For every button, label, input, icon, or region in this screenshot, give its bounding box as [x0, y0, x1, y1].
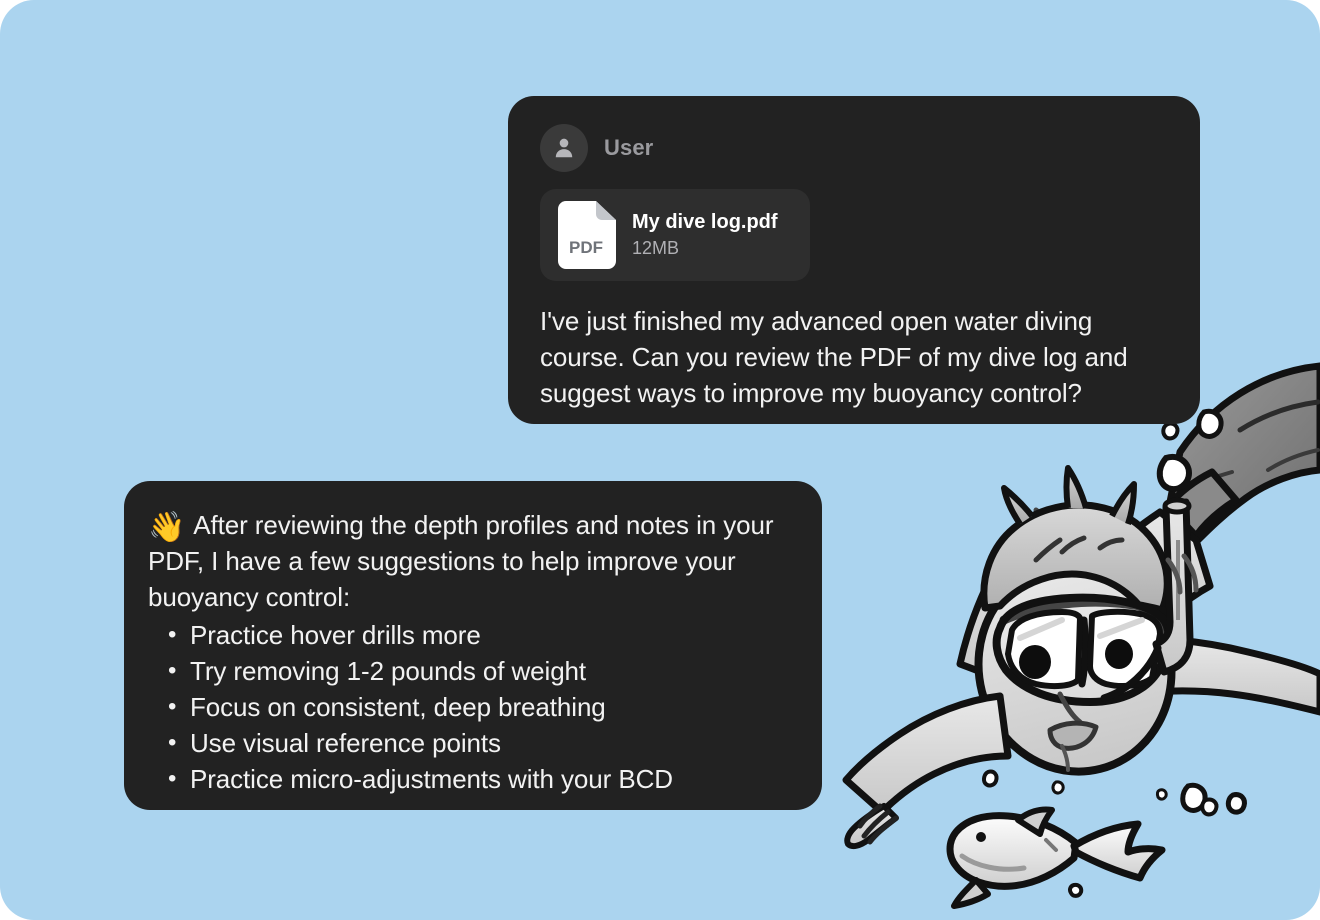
suggestion-list: Practice hover drills more Try removing … — [148, 617, 798, 797]
list-item: Practice hover drills more — [162, 617, 798, 653]
list-item: Use visual reference points — [162, 725, 798, 761]
user-message-bubble: User PDF My dive log.pdf 12MB I've just … — [508, 96, 1200, 424]
assistant-intro-text: After reviewing the depth profiles and n… — [148, 510, 773, 612]
svg-text:PDF: PDF — [569, 238, 603, 257]
diver-figure — [846, 366, 1320, 846]
person-icon — [551, 135, 577, 161]
pdf-file-icon: PDF — [558, 201, 616, 269]
list-item: Practice micro-adjustments with your BCD — [162, 761, 798, 797]
assistant-message-body: 👋After reviewing the depth profiles and … — [148, 507, 798, 797]
assistant-intro-paragraph: 👋After reviewing the depth profiles and … — [148, 507, 798, 615]
assistant-message-bubble: 👋After reviewing the depth profiles and … — [124, 481, 822, 810]
list-item: Focus on consistent, deep breathing — [162, 689, 798, 725]
fish-illustration — [950, 809, 1162, 906]
user-message-text: I've just finished my advanced open wate… — [540, 303, 1170, 411]
list-item: Try removing 1-2 pounds of weight — [162, 653, 798, 689]
air-bubbles — [984, 382, 1244, 896]
user-name-label: User — [604, 135, 653, 161]
attachment-card[interactable]: PDF My dive log.pdf 12MB — [540, 189, 810, 281]
user-message-header: User — [538, 122, 1170, 174]
attachment-meta: My dive log.pdf 12MB — [632, 211, 778, 259]
attachment-file-name: My dive log.pdf — [632, 211, 778, 234]
waving-hand-emoji: 👋 — [148, 511, 185, 544]
page-canvas: User PDF My dive log.pdf 12MB I've just … — [0, 0, 1320, 920]
avatar — [540, 124, 588, 172]
attachment-file-size: 12MB — [632, 238, 778, 259]
